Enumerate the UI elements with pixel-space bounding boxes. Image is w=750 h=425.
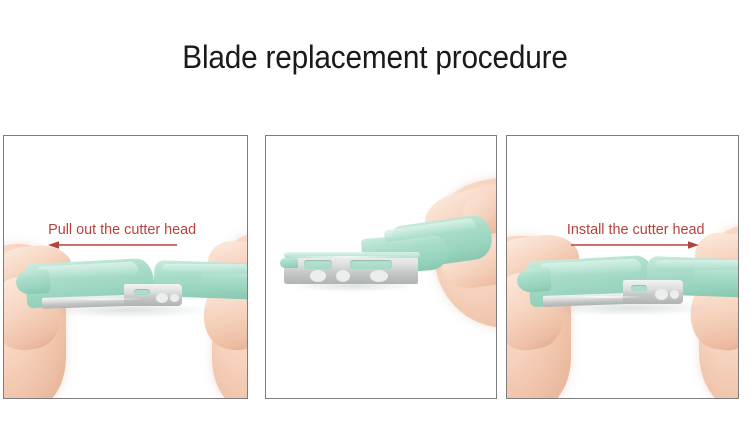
panel-2-photo bbox=[266, 136, 496, 398]
install-arrow bbox=[571, 240, 699, 250]
blade-specular-highlight bbox=[64, 298, 144, 300]
procedure-panel-1: Pull out the cutter head bbox=[3, 135, 248, 399]
handle-highlight bbox=[655, 260, 738, 270]
blade-notch-1 bbox=[655, 289, 668, 300]
handle-highlight bbox=[162, 264, 247, 274]
blade-specular-highlight bbox=[563, 296, 645, 298]
blade-notch-2 bbox=[670, 290, 679, 299]
panel-3-photo bbox=[507, 136, 738, 398]
blade-edge-highlight bbox=[288, 256, 406, 258]
blade-slot-left bbox=[304, 260, 332, 269]
cutter-head-tip bbox=[15, 269, 51, 295]
blade-under-shadow bbox=[288, 280, 418, 292]
page-title: Blade replacement procedure bbox=[26, 37, 724, 77]
panel-gap-1 bbox=[248, 135, 265, 136]
blade-notch-2 bbox=[170, 294, 179, 302]
panel-gap-2 bbox=[497, 135, 506, 136]
blade-slot-right bbox=[350, 260, 392, 269]
procedure-panel-2 bbox=[265, 135, 497, 399]
blade-slot-1 bbox=[631, 285, 647, 291]
panel-1-caption: Pull out the cutter head bbox=[48, 221, 196, 239]
panel-3-caption: Install the cutter head bbox=[567, 221, 705, 239]
procedure-panel-row: Pull out the cutter head bbox=[3, 135, 747, 399]
blade-plate-left-tab bbox=[280, 258, 298, 268]
cutter-head-tip bbox=[516, 267, 552, 293]
panel-1-photo bbox=[4, 136, 247, 398]
blade-slot-1 bbox=[134, 289, 150, 295]
procedure-panel-3: Install the cutter head bbox=[506, 135, 739, 399]
pull-out-arrow bbox=[48, 240, 178, 250]
tool-shadow bbox=[543, 300, 715, 316]
tool-shadow bbox=[44, 302, 214, 318]
